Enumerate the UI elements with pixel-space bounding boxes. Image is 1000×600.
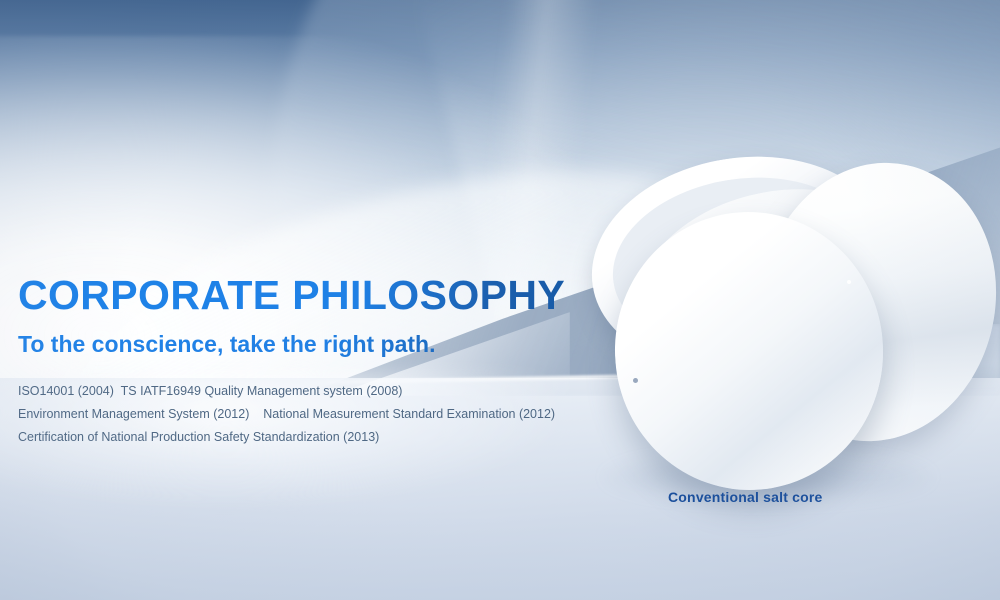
- ring-highlight-icon: [847, 280, 851, 284]
- certification-list: ISO14001 (2004) TS IATF16949 Quality Man…: [18, 380, 658, 449]
- page-subtitle: To the conscience, take the right path.: [18, 330, 658, 358]
- headline-block: CORPORATE PHILOSOPHY To the conscience, …: [18, 272, 658, 449]
- certification-line: Certification of National Production Saf…: [18, 426, 658, 449]
- product-caption: Conventional salt core: [668, 489, 823, 505]
- corporate-philosophy-banner: CORPORATE PHILOSOPHY To the conscience, …: [0, 0, 1000, 600]
- certification-line: ISO14001 (2004) TS IATF16949 Quality Man…: [18, 380, 658, 403]
- certification-line: Environment Management System (2012) Nat…: [18, 403, 658, 426]
- page-title: CORPORATE PHILOSOPHY: [18, 272, 658, 318]
